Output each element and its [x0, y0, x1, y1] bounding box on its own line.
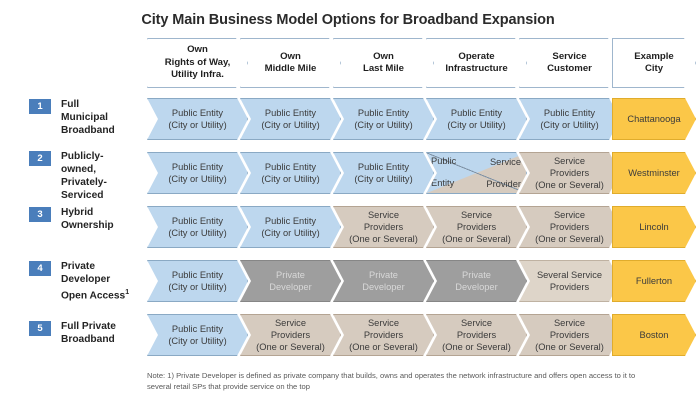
cell-r2-c0: Public Entity (City or Utility) — [147, 152, 248, 194]
cell-r4-c0: Public Entity (City or Utility) — [147, 260, 248, 302]
row-label-text-1: Full Municipal Broadband — [61, 98, 115, 137]
cell-r5-example-city: Boston — [612, 314, 696, 356]
split-label-service-provider: Service Provider — [486, 157, 521, 190]
cell-r3-example-city: Lincoln — [612, 206, 696, 248]
row-number-badge-5: 5 — [29, 321, 51, 336]
cell-r2-c2: Public Entity (City or Utility) — [333, 152, 434, 194]
row-number-badge-3: 3 — [29, 207, 51, 222]
row-label-3: 3 Hybrid Ownership — [0, 206, 147, 232]
column-header-example-city: Example City — [612, 38, 696, 88]
page-title: City Main Business Model Options for Bro… — [0, 12, 696, 28]
cell-r4-c4: Several Service Providers — [519, 260, 620, 302]
cell-r4-c3: Private Developer — [426, 260, 527, 302]
row-number-badge-4: 4 — [29, 261, 51, 276]
cell-r1-c4: Public Entity (City or Utility) — [519, 98, 620, 140]
cell-r5-c0: Public Entity (City or Utility) — [147, 314, 248, 356]
cell-r2-c1: Public Entity (City or Utility) — [240, 152, 341, 194]
cell-r1-c0: Public Entity (City or Utility) — [147, 98, 248, 140]
cell-r4-c1: Private Developer — [240, 260, 341, 302]
row-label-text-5: Full Private Broadband — [61, 320, 116, 346]
cell-r5-c4: Service Providers (One or Several) — [519, 314, 620, 356]
cell-r1-example-city: Chattanooga — [612, 98, 696, 140]
cell-r4-c2: Private Developer — [333, 260, 434, 302]
cell-r2-c3-split: Public Entity Service Provider — [426, 152, 527, 194]
cell-r5-c3: Service Providers (One or Several) — [426, 314, 527, 356]
cell-r2-c4: Service Providers (One or Several) — [519, 152, 620, 194]
row-label-text-2: Publicly- owned, Privately- Serviced — [61, 150, 107, 202]
row-number-badge-2: 2 — [29, 151, 51, 166]
cell-r1-c2: Public Entity (City or Utility) — [333, 98, 434, 140]
row-label-4: 4 Private Developer Open Access1 — [0, 260, 147, 302]
footnote-line-1: Note: 1) Private Developer is defined as… — [147, 371, 532, 380]
cell-r3-c3: Service Providers (One or Several) — [426, 206, 527, 248]
row-label-text-3: Hybrid Ownership — [61, 206, 114, 232]
cell-r1-c3: Public Entity (City or Utility) — [426, 98, 527, 140]
cell-r3-c2: Service Providers (One or Several) — [333, 206, 434, 248]
column-header-own-middle-mile: Own Middle Mile — [240, 38, 341, 88]
column-header-service-customer: Service Customer — [519, 38, 620, 88]
cell-r4-example-city: Fullerton — [612, 260, 696, 302]
cell-r1-c1: Public Entity (City or Utility) — [240, 98, 341, 140]
column-header-own-rights-of-way: Own Rights of Way, Utility Infra. — [147, 38, 248, 88]
footnote: Note: 1) Private Developer is defined as… — [147, 370, 647, 392]
row-label-text-4: Private Developer Open Access1 — [61, 260, 129, 302]
column-header-own-last-mile: Own Last Mile — [333, 38, 434, 88]
footnote-marker: 1 — [125, 289, 129, 296]
cell-r5-c2: Service Providers (One or Several) — [333, 314, 434, 356]
split-label-public-entity: Public Entity — [431, 156, 456, 189]
cell-r5-c1: Service Providers (One or Several) — [240, 314, 341, 356]
cell-r3-c0: Public Entity (City or Utility) — [147, 206, 248, 248]
row-label-1: 1 Full Municipal Broadband — [0, 98, 147, 137]
column-header-operate-infrastructure: Operate Infrastructure — [426, 38, 527, 88]
cell-r3-c4: Service Providers (One or Several) — [519, 206, 620, 248]
row-label-2: 2 Publicly- owned, Privately- Serviced — [0, 150, 147, 202]
cell-r3-c1: Public Entity (City or Utility) — [240, 206, 341, 248]
cell-r2-example-city: Westminster — [612, 152, 696, 194]
row-number-badge-1: 1 — [29, 99, 51, 114]
row-label-5: 5 Full Private Broadband — [0, 320, 147, 346]
